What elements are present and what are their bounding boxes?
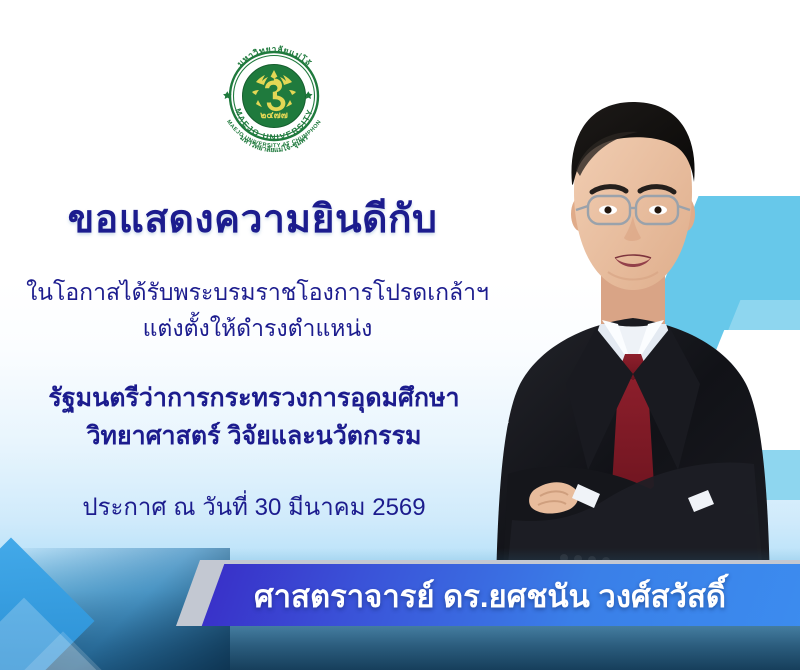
position-title-line-2: วิทยาศาสตร์ วิจัยและนวัตกรรม bbox=[0, 416, 508, 456]
maejo-university-logo: ๒๔๗๗ มหาวิทยาลัยแม่โจ้ MAEJO UNIVERSITY … bbox=[212, 34, 332, 154]
position-title-line-1: รัฐมนตรีว่าการกระทรวงการอุดมศึกษา bbox=[0, 378, 508, 418]
announcement-date: ประกาศ ณ วันที่ 30 มีนาคม 2569 bbox=[0, 487, 508, 526]
svg-text:๒๔๗๗: ๒๔๗๗ bbox=[260, 110, 288, 121]
page-title: ขอแสดงความยินดีกับ bbox=[0, 188, 505, 250]
university-seal-icon: ๒๔๗๗ มหาวิทยาลัยแม่โจ้ MAEJO UNIVERSITY … bbox=[212, 34, 332, 154]
congratulations-poster: ๒๔๗๗ มหาวิทยาลัยแม่โจ้ MAEJO UNIVERSITY … bbox=[0, 0, 800, 670]
avatar bbox=[468, 66, 798, 586]
honoree-name: ศาสตราจารย์ ดร.ยศชนัน วงศ์สวัสดิ์ bbox=[190, 568, 790, 624]
honoree-name-banner: ศาสตราจารย์ ดร.ยศชนัน วงศ์สวัสดิ์ bbox=[0, 558, 800, 630]
subtitle-line-1: ในโอกาสได้รับพระบรมราชโองการโปรดเกล้าฯ bbox=[0, 275, 515, 311]
subtitle-line-2: แต่งตั้งให้ดำรงตำแหน่ง bbox=[0, 311, 515, 347]
